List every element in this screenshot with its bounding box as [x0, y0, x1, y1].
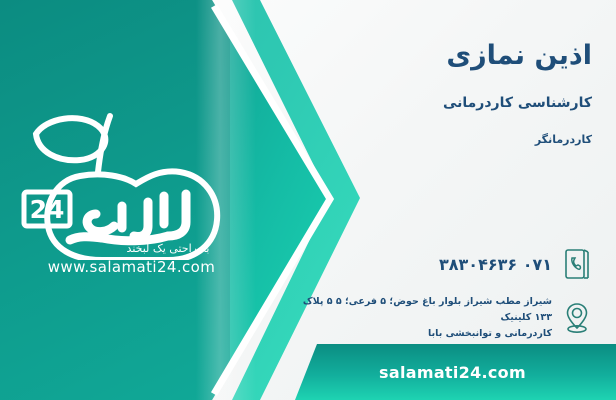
- person-degree: کارشناسی کاردرمانی: [443, 95, 592, 111]
- address-row: شیراز مطب شیراز بلوار باغ حوض؛ ۵ فرعی؛ ۵…: [296, 294, 596, 342]
- address-line-2: کاردرمانی و توانبخشی بابا: [296, 326, 552, 342]
- footer-website: salamati24.com: [379, 363, 526, 382]
- footer-bar: salamati24.com: [295, 344, 616, 400]
- brand-logo: 24 به راحتی یک لبخند www.salamati24.com: [18, 110, 243, 275]
- badge-24: 24: [24, 192, 70, 226]
- apple-outline-icon: 24 به راحتی یک لبخند: [18, 110, 243, 260]
- phonebook-icon: [558, 244, 596, 284]
- person-role: کاردرمانگر: [535, 133, 592, 146]
- address-line-1: شیراز مطب شیراز بلوار باغ حوض؛ ۵ فرعی؛ ۵…: [296, 294, 552, 326]
- svg-text:24: 24: [30, 195, 65, 224]
- person-name: اذین نمازی: [446, 40, 592, 71]
- logo-website-url: www.salamati24.com: [24, 258, 239, 276]
- map-pin-icon: [558, 298, 596, 338]
- contact-block: ۰۷۱ ۳۸۳۰۴۶۳۶ شیراز مطب شیراز بلوار باغ ح…: [296, 244, 596, 352]
- address-text: شیراز مطب شیراز بلوار باغ حوض؛ ۵ فرعی؛ ۵…: [296, 294, 558, 342]
- business-card: 24 به راحتی یک لبخند www.salamati24.com …: [0, 0, 616, 400]
- logo-tagline: به راحتی یک لبخند: [127, 242, 210, 255]
- phone-number: ۰۷۱ ۳۸۳۰۴۶۳۶: [296, 255, 558, 274]
- phone-row: ۰۷۱ ۳۸۳۰۴۶۳۶: [296, 244, 596, 284]
